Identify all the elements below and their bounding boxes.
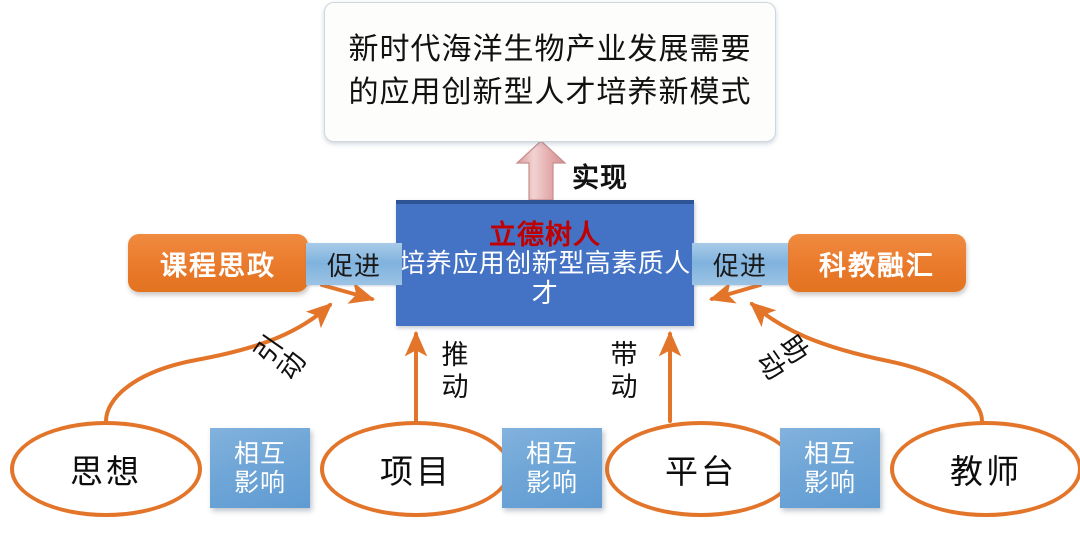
foundation-label-4: 教师 [950,445,1022,493]
foundation-ellipse-teacher: 教师 [890,421,1080,517]
realize-label: 实现 [572,156,628,195]
connector-label-left-vertical-line1: 推 [437,340,473,372]
foundation-label-2: 项目 [380,445,452,493]
realize-arrow-icon [517,141,565,200]
connector-label-right-vertical: 带 动 [606,340,642,403]
core-body: 培养应用创新型高素质人才 [396,250,694,309]
connector-label-right-vertical-line1: 带 [606,340,642,372]
mutual-influence-box-2: 相互 影响 [502,428,602,508]
connector-label-right-vertical-line2: 动 [606,372,642,404]
band-promote-left: 促进 [306,243,402,285]
pill-course-ideology: 课程思政 [128,234,308,292]
foundation-ellipse-project: 项目 [320,421,512,517]
connector-label-right-curve: 助 动 [751,331,813,386]
pill-left-label: 课程思政 [160,244,276,283]
foundation-ellipse-thought: 思想 [10,421,202,517]
core-box: 立德树人 培养应用创新型高素质人才 [396,200,694,326]
connector-band-right [712,285,760,299]
mutual-influence-box-3: 相互 影响 [780,428,880,508]
mutual-influence-3-line1: 相互 [804,439,856,468]
foundation-label-1: 思想 [70,445,142,493]
mutual-influence-2-line1: 相互 [526,439,578,468]
connector-band-left [322,285,372,299]
core-headline: 立德树人 [489,221,601,250]
pill-right-label: 科教融汇 [819,244,935,283]
connector-label-left-vertical-line2: 动 [437,372,473,404]
pill-science-education: 科教融汇 [788,234,966,292]
mutual-influence-1-line1: 相互 [234,439,286,468]
mutual-influence-box-1: 相互 影响 [210,428,310,508]
band-right-label: 促进 [713,246,767,283]
band-left-label: 促进 [327,246,381,283]
mutual-influence-3-line2: 影响 [804,468,856,497]
diagram-canvas: 新时代海洋生物产业发展需要的应用创新型人才培养新模式 实现 立德树人 培养应用创… [0,0,1080,538]
goal-box: 新时代海洋生物产业发展需要的应用创新型人才培养新模式 [324,2,776,142]
foundation-ellipse-platform: 平台 [605,421,797,517]
mutual-influence-2-line2: 影响 [526,468,578,497]
foundation-label-3: 平台 [665,445,737,493]
goal-box-text: 新时代海洋生物产业发展需要的应用创新型人才培养新模式 [343,29,757,114]
mutual-influence-1-line2: 影响 [234,468,286,497]
band-promote-right: 促进 [692,243,788,285]
connector-label-left-vertical: 推 动 [437,340,473,403]
connector-label-left-curve: 引 动 [251,331,313,386]
